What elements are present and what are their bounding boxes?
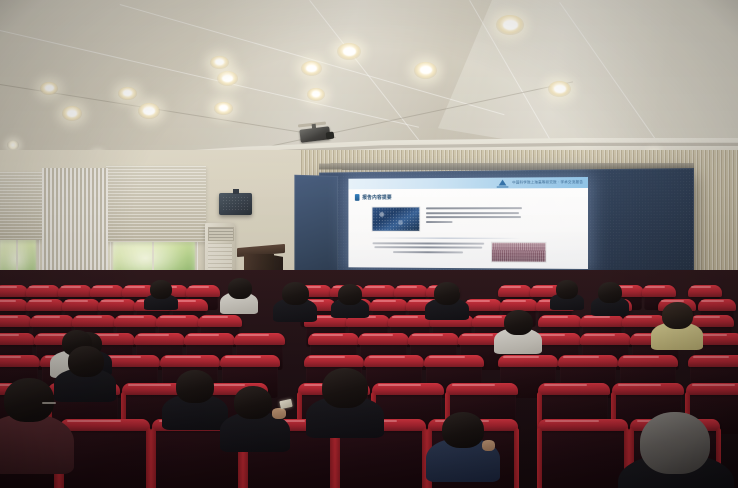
ceiling-downlight-core bbox=[215, 59, 224, 65]
person-head bbox=[150, 280, 172, 299]
ceiling-downlight-core bbox=[219, 105, 228, 111]
slide-section-title-row: 报告内容提要 bbox=[355, 194, 392, 201]
text-line bbox=[426, 207, 522, 209]
ceiling-downlight-core bbox=[554, 85, 566, 93]
slide-image-right bbox=[492, 243, 546, 262]
text-line bbox=[372, 242, 484, 244]
text-line bbox=[375, 247, 482, 249]
ceiling-downlight-core bbox=[306, 65, 317, 72]
slide-section-title: 报告内容提要 bbox=[362, 194, 392, 201]
seat[interactable] bbox=[540, 422, 626, 488]
organization-logo-icon bbox=[497, 179, 509, 188]
roller-blind-center[interactable] bbox=[106, 166, 206, 242]
person-hand bbox=[482, 440, 495, 451]
ceiling-downlight-core bbox=[503, 20, 518, 30]
person-head bbox=[598, 282, 622, 303]
seat[interactable] bbox=[62, 422, 148, 488]
bookmark-icon bbox=[355, 194, 360, 201]
ceiling-projector bbox=[296, 124, 338, 146]
eyeglasses-icon bbox=[42, 402, 56, 404]
ceiling-downlight-core bbox=[143, 107, 155, 115]
wall-speaker bbox=[219, 193, 252, 215]
projector-lens bbox=[326, 132, 335, 140]
person-head bbox=[282, 282, 309, 305]
person-head bbox=[338, 284, 362, 305]
ceiling-downlight-core bbox=[67, 110, 77, 117]
person-head bbox=[234, 386, 272, 419]
slide-image-left bbox=[372, 207, 419, 230]
person-head bbox=[176, 370, 214, 403]
person-head bbox=[640, 412, 710, 474]
text-line bbox=[426, 221, 453, 223]
soffit-downlight bbox=[7, 140, 19, 150]
ceiling-downlight-core bbox=[343, 47, 356, 56]
ceiling-downlight-core bbox=[123, 90, 132, 96]
person-head bbox=[556, 280, 578, 299]
person-head bbox=[504, 310, 533, 335]
person-shoulders bbox=[0, 414, 74, 474]
slide-body-paragraph bbox=[426, 207, 522, 225]
blind-texture bbox=[0, 172, 42, 240]
slide-divider bbox=[369, 237, 521, 238]
speaker-grille bbox=[222, 196, 249, 212]
person-head bbox=[322, 368, 368, 408]
text-line bbox=[426, 216, 521, 218]
slide-header-bar: 中国科学院上海高等研究院 · 学术交流报告 bbox=[348, 177, 588, 189]
slide-header-title: 中国科学院上海高等研究院 · 学术交流报告 bbox=[512, 180, 583, 185]
presentation-slide: 中国科学院上海高等研究院 · 学术交流报告 报告内容提要 bbox=[348, 177, 588, 269]
auditorium-seating bbox=[0, 270, 738, 488]
ceiling-downlight-core bbox=[222, 75, 233, 82]
person-hand bbox=[272, 408, 286, 419]
ac-vent bbox=[208, 227, 234, 241]
ceiling-downlight-core bbox=[420, 66, 432, 74]
ceiling-downlight-core bbox=[45, 85, 54, 91]
person-head bbox=[662, 302, 693, 329]
slide-footnote-paragraph bbox=[372, 242, 484, 255]
speaker-mount-bracket bbox=[233, 189, 239, 194]
auditorium-photo: 中国科学院上海高等研究院 · 学术交流报告 报告内容提要 bbox=[0, 0, 738, 488]
person-head bbox=[4, 378, 54, 422]
person-head bbox=[442, 412, 484, 448]
person-head bbox=[228, 278, 252, 299]
roller-blind-left[interactable] bbox=[0, 172, 42, 240]
blind-texture bbox=[106, 166, 206, 242]
person-head bbox=[68, 346, 104, 377]
person-head bbox=[434, 282, 460, 305]
text-line bbox=[426, 212, 519, 214]
text-line bbox=[393, 251, 462, 253]
ceiling-downlight-core bbox=[312, 91, 320, 97]
